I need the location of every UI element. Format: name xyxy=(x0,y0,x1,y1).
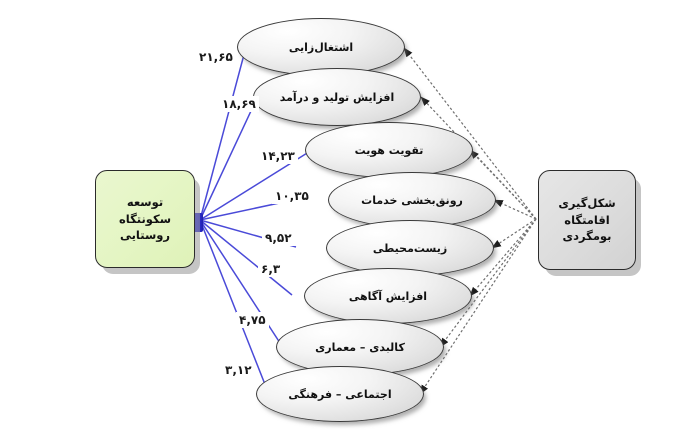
target-node-line-2: اقامتگاه xyxy=(564,212,609,229)
factor-node-identity-strengthening[interactable]: تقویت هویت xyxy=(305,122,473,178)
diagram-canvas: توسعه سکونتگاه روستایی شکل‌گیری اقامتگاه… xyxy=(0,0,681,433)
weight-label-socio-cultural: ۳,۱۲ xyxy=(222,362,255,378)
edge-source-job-creation xyxy=(200,47,246,220)
edge-target-environmental xyxy=(492,219,536,248)
weight-label-physical-architecture: ۴,۷۵ xyxy=(236,312,269,328)
target-node-line-1: شکل‌گیری xyxy=(558,195,615,212)
source-node-rural-settlement-development[interactable]: توسعه سکونتگاه روستایی xyxy=(95,170,195,268)
target-node-ecotourism-lodging-formation[interactable]: شکل‌گیری اقامتگاه بومگردی xyxy=(538,170,636,270)
target-node-line-3: بومگردی xyxy=(563,228,612,245)
factor-node-awareness-increase[interactable]: افزایش آگاهی xyxy=(304,268,472,324)
source-node-line-3: روستایی xyxy=(120,227,170,244)
weight-label-identity-strengthening: ۱۴,۲۳ xyxy=(258,148,298,164)
factor-node-job-creation[interactable]: اشتغال‌زایی xyxy=(237,18,405,76)
factor-node-production-income[interactable]: افزایش تولید و درآمد xyxy=(253,68,421,126)
factor-node-socio-cultural[interactable]: اجتماعی – فرهنگی xyxy=(256,366,424,422)
factor-node-environmental[interactable]: زیست‌محیطی xyxy=(326,220,494,276)
weight-label-awareness-increase: ۶,۳ xyxy=(258,261,283,277)
weight-label-services-boost: ۱۰,۳۵ xyxy=(272,188,312,204)
weight-label-job-creation: ۲۱,۶۵ xyxy=(196,49,236,65)
edge-target-services-boost xyxy=(494,200,536,219)
source-node-line-1: توسعه xyxy=(127,194,163,211)
weight-label-production-income: ۱۸,۶۹ xyxy=(219,96,259,112)
weight-label-environmental: ۹,۵۲ xyxy=(262,230,295,246)
source-node-line-2: سکونتگاه xyxy=(119,211,171,228)
